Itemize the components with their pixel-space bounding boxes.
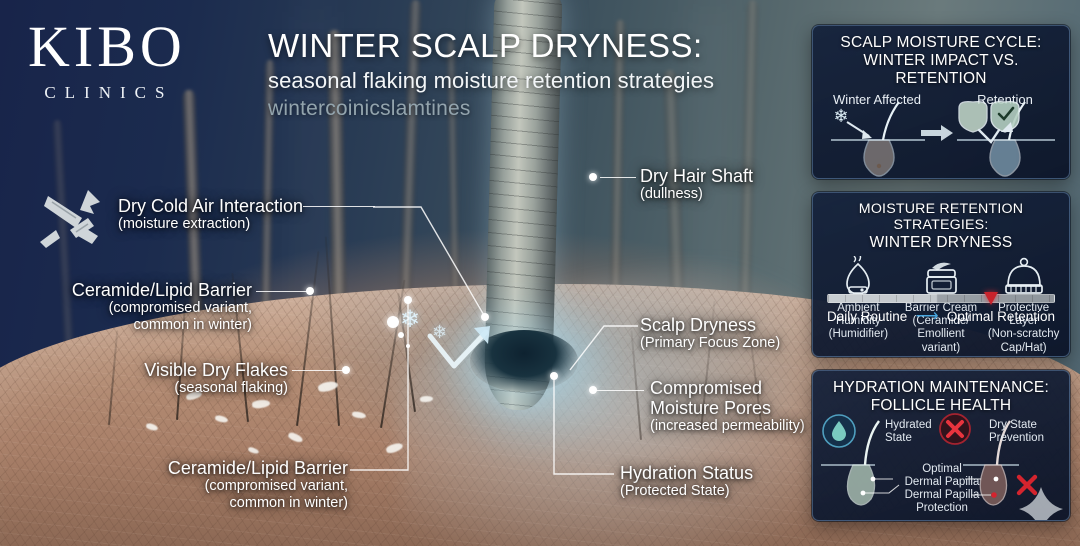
panel-moisture-cycle[interactable]: SCALP MOISTURE CYCLE: WINTER IMPACT VS. … — [812, 25, 1070, 179]
leader-dot — [589, 173, 597, 181]
callout-title: Compromised — [650, 378, 805, 398]
slider-right-label: Optimal Retention — [947, 309, 1055, 324]
strategy-sub: (Non-scratchy — [988, 328, 1060, 341]
shield-icon — [959, 102, 987, 132]
panel-heading-line1: MOISTURE RETENTION STRATEGIES: — [819, 201, 1063, 234]
callout-sub: (compromised variant, — [0, 478, 348, 495]
snowflake-icon: ❄ — [833, 106, 848, 126]
leader-dot — [481, 313, 489, 321]
slider-left-label: Daily Routine — [827, 309, 907, 324]
sparkle-icon — [1019, 487, 1063, 521]
strategy-sub2: Cap/Hat) — [1001, 342, 1047, 355]
dry-state-label: Dry State Prevention — [989, 419, 1044, 445]
moisture-cycle-diagram: ❄ — [813, 100, 1070, 179]
leader-dot — [550, 372, 558, 380]
panel-heading: HYDRATION MAINTENANCE: FOLLICLE HEALTH — [813, 371, 1069, 417]
page-title: WINTER SCALP DRYNESS: seasonal flaking m… — [268, 28, 714, 121]
panel-heading-line2: WINTER DRYNESS — [819, 234, 1063, 252]
callout-title: Ceramide/Lipid Barrier — [0, 458, 348, 478]
callout-sub: (dullness) — [640, 186, 753, 203]
callout-dry-hair-shaft: Dry Hair Shaft (dullness) — [640, 166, 753, 203]
callout-sub: (seasonal flaking) — [0, 380, 288, 397]
leader-line-curve — [568, 320, 644, 376]
callout-sub: (compromised variant, — [0, 300, 252, 317]
title-subtitle: seasonal flaking moisture retention stra… — [268, 68, 714, 94]
callout-hydration-status: Hydration Status (Protected State) — [620, 463, 753, 500]
leader-line — [292, 370, 344, 371]
hydrated-state-label: Hydrated State — [885, 419, 932, 445]
panel-heading-line2: WINTER IMPACT VS. RETENTION — [819, 52, 1063, 88]
panel-heading-line1: SCALP MOISTURE CYCLE: — [819, 34, 1063, 52]
brand-name: KIBO — [28, 18, 186, 76]
leader-line — [600, 177, 636, 178]
panel-retention-strategies[interactable]: MOISTURE RETENTION STRATEGIES: WINTER DR… — [812, 192, 1070, 357]
callout-sub2: common in winter) — [0, 317, 252, 334]
callout-title2: Moisture Pores — [650, 398, 805, 418]
optimal-dermal-papilla-label: Optimal Dermal Papilla — [897, 463, 987, 489]
brand-logo: KIBO CLINICS — [28, 18, 186, 103]
callout-sub: (Primary Focus Zone) — [640, 335, 780, 352]
callout-title: Hydration Status — [620, 463, 753, 483]
arrow-right-icon: ⟶ — [916, 306, 939, 326]
slider-marker[interactable] — [984, 292, 998, 305]
callout-title: Scalp Dryness — [640, 315, 780, 335]
x-mark-icon — [1019, 477, 1035, 493]
callout-title: Dry Cold Air Interaction — [118, 196, 303, 216]
water-drop-icon — [823, 415, 855, 447]
leader-line-elbow — [350, 300, 440, 476]
retention-slider[interactable]: Daily Routine ⟶ Optimal Retention — [827, 294, 1055, 326]
leader-dot — [306, 287, 314, 295]
leader-dot — [404, 296, 412, 304]
callout-dry-cold-air: Dry Cold Air Interaction (moisture extra… — [118, 196, 303, 233]
infographic-canvas: ❄ ❄ KIBO CLINICS WINTER SCALP DRYNESS: s… — [0, 0, 1080, 546]
slider-labels: Daily Routine ⟶ Optimal Retention — [827, 306, 1055, 326]
strategy-sub: (Humidifier) — [829, 328, 888, 341]
panel-heading: SCALP MOISTURE CYCLE: WINTER IMPACT VS. … — [813, 26, 1069, 90]
callout-title: Visible Dry Flakes — [0, 360, 288, 380]
strategy-sub2: Emollient variant) — [900, 328, 983, 354]
callout-sub: (moisture extraction) — [118, 216, 303, 233]
leader-line — [303, 206, 375, 207]
callout-visible-dry-flakes: Visible Dry Flakes (seasonal flaking) — [0, 360, 288, 397]
callout-title: Dry Hair Shaft — [640, 166, 753, 186]
callout-title: Ceramide/Lipid Barrier — [0, 280, 252, 300]
callout-ceramide-upper: Ceramide/Lipid Barrier (compromised vari… — [0, 280, 252, 333]
leader-line — [256, 291, 308, 292]
callout-compromised-moisture-pores: Compromised Moisture Pores (increased pe… — [650, 378, 805, 435]
callout-sub2: common in winter) — [0, 495, 348, 512]
title-website: wintercoinicslamtines — [268, 97, 714, 121]
callout-sub: (increased permeability) — [650, 418, 805, 435]
x-circle-icon — [940, 414, 970, 444]
panel-heading: MOISTURE RETENTION STRATEGIES: WINTER DR… — [813, 193, 1069, 254]
slider-track[interactable] — [827, 294, 1055, 303]
leader-dot — [342, 366, 350, 374]
callout-sub: (Protected State) — [620, 483, 753, 500]
panel-heading-line1: HYDRATION MAINTENANCE: — [819, 379, 1063, 397]
callout-ceramide-lower: Ceramide/Lipid Barrier (compromised vari… — [0, 458, 348, 511]
brand-subtitle: CLINICS — [28, 83, 186, 103]
cold-air-icon — [36, 180, 114, 252]
shield-check-icon — [991, 102, 1019, 132]
dermal-papilla-protection-label: Dermal Papilla Protection — [893, 489, 991, 515]
title-main: WINTER SCALP DRYNESS: — [268, 28, 714, 64]
leader-line-elbow — [548, 372, 620, 480]
panel-hydration-maintenance[interactable]: HYDRATION MAINTENANCE: FOLLICLE HEALTH — [812, 370, 1070, 521]
callout-scalp-dryness: Scalp Dryness (Primary Focus Zone) — [640, 315, 780, 352]
